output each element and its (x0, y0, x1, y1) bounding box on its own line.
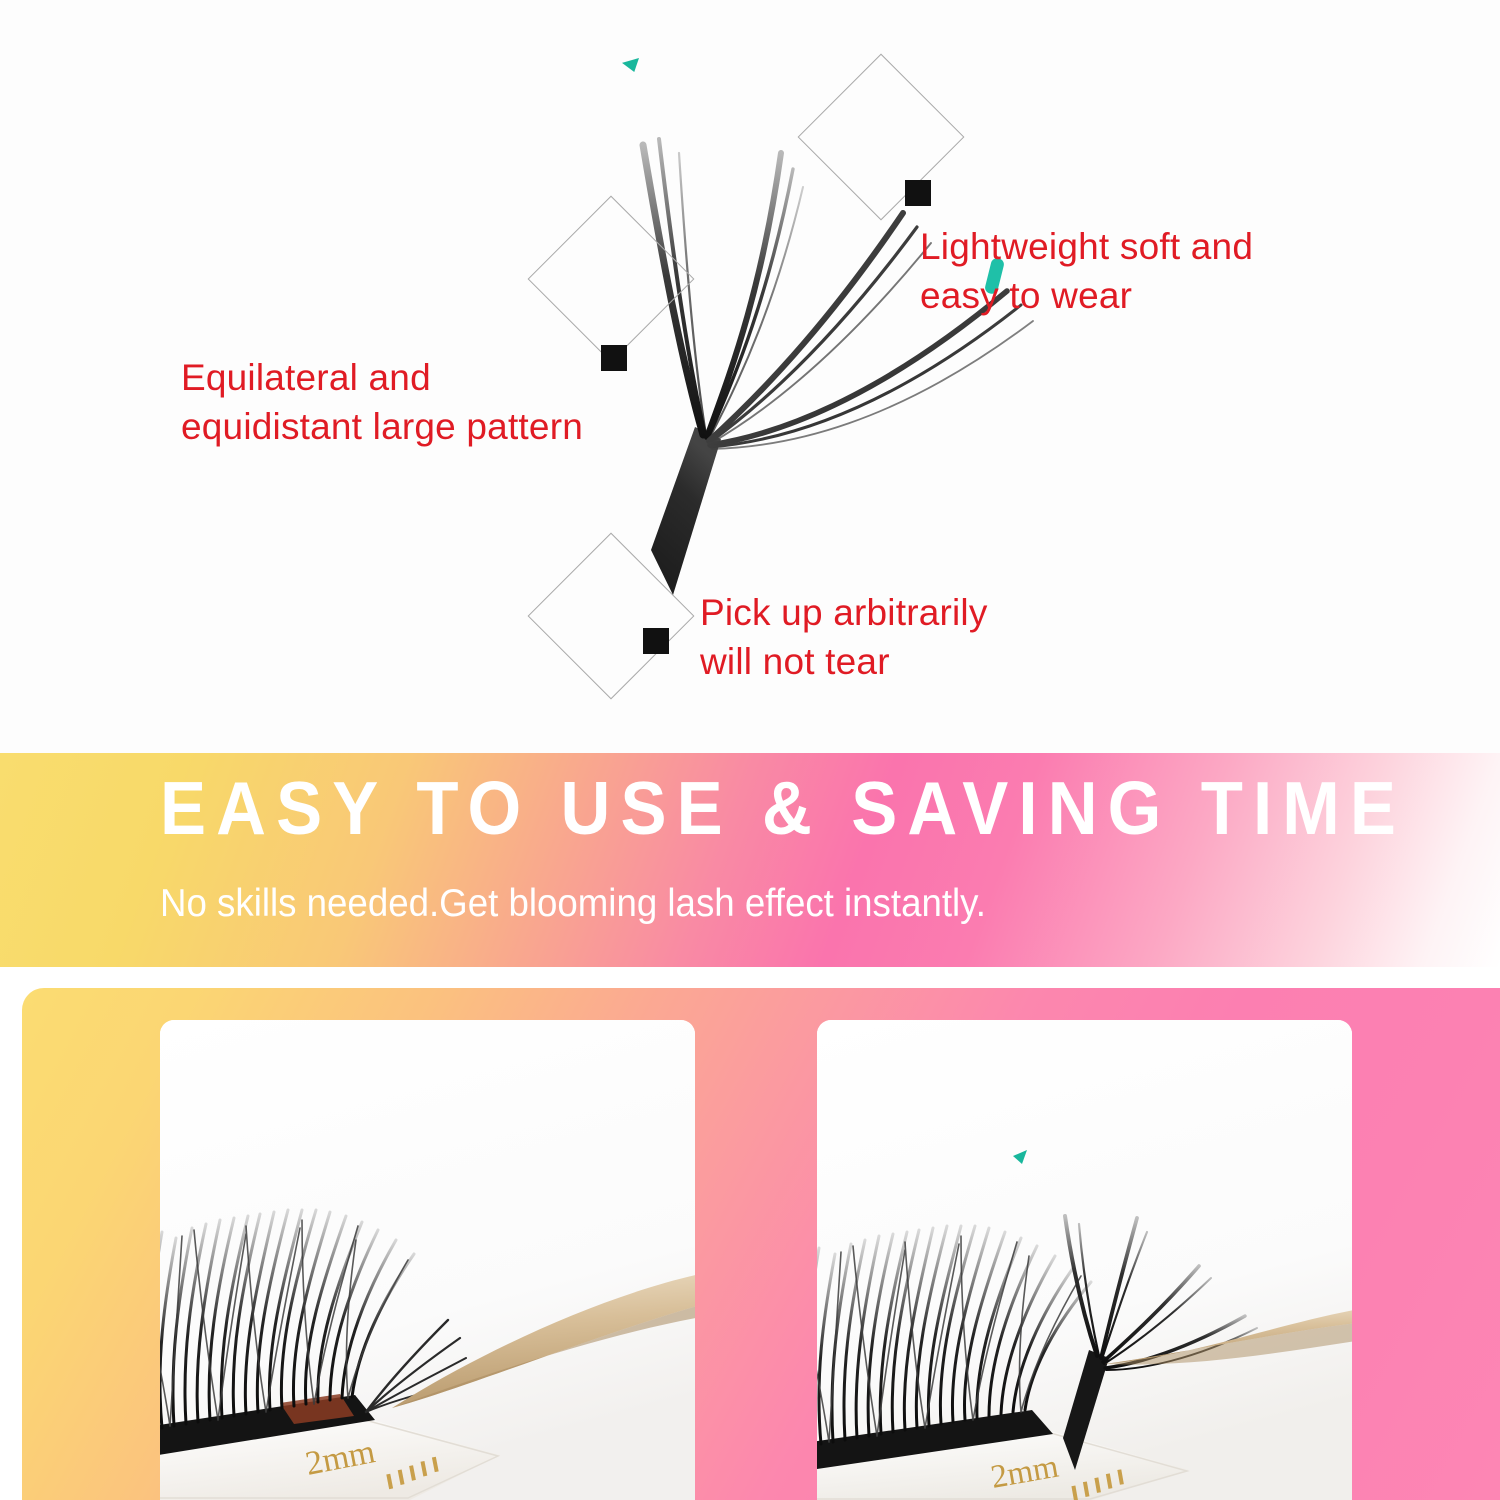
photo-gradient-frame: 2mm (22, 988, 1500, 1500)
product-photo-section: 2mm (0, 967, 1500, 1500)
product-feature-page: Equilateral and equidistant large patter… (0, 0, 1500, 1500)
feature-label-equilateral: Equilateral and equidistant large patter… (181, 353, 583, 451)
promo-subheadline: No skills needed.Get blooming lash effec… (160, 882, 986, 926)
photo-card-right: 2mm (817, 1020, 1352, 1500)
photo-card-left: 2mm (160, 1020, 695, 1500)
callout-nub-pickup (643, 628, 669, 654)
feature-diagram-section: Equilateral and equidistant large patter… (0, 0, 1500, 753)
promo-banner-section: EASY TO USE & SAVING TIME No skills need… (0, 753, 1500, 967)
feature-label-lightweight: Lightweight soft and easy to wear (920, 222, 1253, 320)
promo-headline: EASY TO USE & SAVING TIME (160, 771, 1406, 846)
lash-strip-detached-fan-photo: 2mm (817, 1020, 1352, 1500)
feature-label-pickup: Pick up arbitrarily will not tear (700, 588, 988, 686)
callout-nub-equilateral (601, 345, 627, 371)
lash-strip-tweezer-photo: 2mm (160, 1020, 695, 1500)
lash-base-stem (651, 427, 721, 595)
callout-nub-lightweight (905, 180, 931, 206)
